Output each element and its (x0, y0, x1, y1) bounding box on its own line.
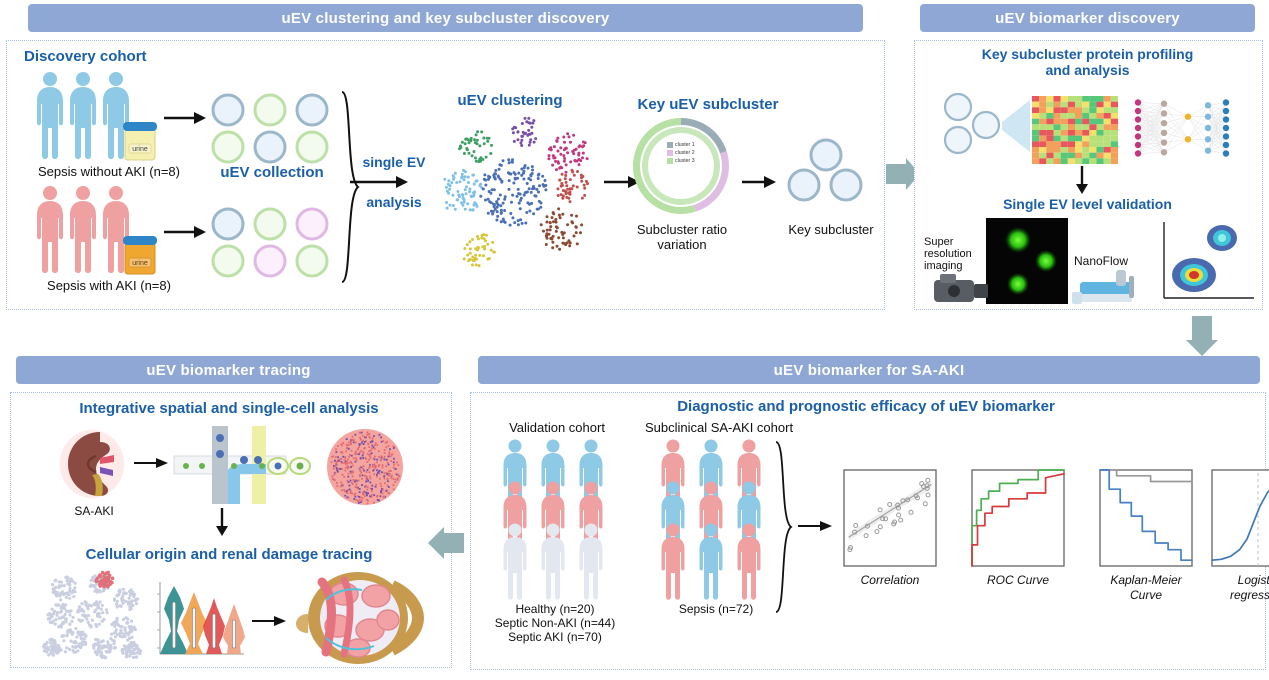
super-res-line1: Super (924, 236, 984, 248)
validation-count-healthy: Healthy (n=20) (480, 602, 630, 616)
subclinical-count-sepsis: Sepsis (n=72) (656, 602, 776, 616)
kidney-label: SA-AKI (56, 504, 132, 518)
discovery-vesicles (940, 92, 1006, 158)
svg-text:urine: urine (132, 146, 148, 153)
key-subcluster-caption: Key subcluster (776, 222, 886, 237)
violin-plot (150, 578, 246, 664)
plot-roc-caption: ROC Curve (960, 574, 1076, 588)
protein-heatmap (1032, 96, 1118, 164)
super-resolution-image (986, 218, 1068, 304)
validation-cohort-people (500, 438, 610, 598)
arrow-to-clustering (350, 174, 408, 190)
connector-arrow-left (428, 527, 464, 559)
panel-biomarker-header: uEV biomarker for SA-AKI (478, 356, 1260, 384)
legend-swatch-cluster3 (667, 158, 673, 164)
neural-network-diagram (1132, 92, 1232, 164)
legend-swatch-cluster2 (667, 150, 673, 156)
arrow-kidney-to-tissue (134, 456, 168, 470)
tracing-subtitle-bottom: Cellular origin and renal damage tracing (14, 546, 444, 563)
spatial-transcriptomics-circle (326, 428, 404, 506)
donut-caption-line1: Subcluster ratio (619, 222, 745, 237)
validation-cohort-label: Validation cohort (492, 420, 622, 435)
umap-scatter (42, 572, 146, 664)
super-res-line2: resolution (924, 248, 984, 260)
arrow-bottom-collection (164, 224, 206, 240)
uev-circles-bottom (208, 204, 333, 280)
uev-circles-top (208, 90, 333, 166)
arrow-down-validation (1074, 166, 1090, 194)
panel-tracing-header: uEV biomarker tracing (16, 356, 441, 384)
super-resolution-label: Super resolution imaging (924, 236, 984, 272)
panel-discovery-header: uEV biomarker discovery (920, 4, 1255, 32)
single-ev-validation-title: Single EV level validation (920, 196, 1255, 212)
legend-label-cluster2: cluster 2 (675, 149, 695, 157)
biomarker-subtitle: Diagnostic and prognostic efficacy of uE… (476, 398, 1256, 415)
single-ev-analysis-label-line1: single EV (354, 154, 434, 170)
urine-cup-yellow: urine (120, 116, 160, 162)
nanoflow-instrument-icon (1072, 268, 1148, 308)
uev-clustering-label: uEV clustering (430, 92, 590, 109)
sepsis-without-aki-label: Sepsis without AKI (n=8) (14, 164, 204, 179)
legend-item-cluster1: cluster 1 (667, 141, 723, 149)
plot-logistic-regression (1208, 466, 1269, 570)
sepsis-with-aki-label: Sepsis with AKI (n=8) (24, 278, 194, 293)
subclinical-cohort-people (658, 438, 768, 598)
arrow-down-tracing (214, 508, 230, 536)
donut-caption-line2: variation (619, 237, 745, 252)
microscope-camera-icon (930, 270, 992, 306)
panel-clustering: uEV clustering and key subcluster discov… (6, 4, 886, 314)
arrow-to-glomerulus (252, 614, 286, 628)
cohort-brace (774, 442, 794, 612)
legend-item-cluster2: cluster 2 (667, 149, 723, 157)
uev-collection-label: uEV collection (202, 164, 342, 181)
discovery-subtitle-line2: and analysis (920, 62, 1255, 78)
legend-swatch-cluster1 (667, 142, 673, 148)
subcluster-ratio-donut (631, 116, 731, 216)
connector-arrow-down (1186, 316, 1218, 356)
legend-label-cluster3: cluster 3 (675, 157, 695, 165)
spatial-tissue-schematic (174, 426, 314, 504)
panel-biomarker: uEV biomarker for SA-AKI Diagnostic and … (466, 356, 1266, 676)
plot-kaplan-meier (1096, 466, 1196, 570)
plot-correlation (840, 466, 940, 570)
svg-text:urine: urine (132, 260, 148, 267)
legend-item-cluster3: cluster 3 (667, 157, 723, 165)
plot-roc-curve (968, 466, 1068, 570)
arrow-to-plots (798, 519, 832, 533)
subclinical-cohort-label: Subclinical SA-AKI cohort (624, 420, 814, 435)
donut-legend: cluster 1 cluster 2 cluster 3 (667, 141, 723, 165)
key-subcluster-vesicles (784, 137, 868, 207)
plot-km-caption-line2: Curve (1088, 589, 1204, 603)
tracing-subtitle-top: Integrative spatial and single-cell anal… (14, 400, 444, 417)
validation-count-septic-non-aki: Septic Non-AKI (n=44) (474, 616, 636, 630)
nanoflow-density-plot (1150, 222, 1254, 308)
glomerulus-icon (292, 568, 418, 668)
validation-count-septic-aki: Septic AKI (n=70) (480, 630, 630, 644)
key-uev-subcluster-label: Key uEV subcluster (618, 96, 798, 113)
panel-discovery: uEV biomarker discovery Key subcluster p… (910, 4, 1265, 314)
legend-label-cluster1: cluster 1 (675, 141, 695, 149)
tsne-scatter-plot (432, 112, 602, 272)
arrow-top-collection (164, 110, 206, 126)
plot-km-caption-line1: Kaplan-Meier (1088, 574, 1204, 588)
plot-correlation-caption: Correlation (832, 574, 948, 588)
panel-clustering-header: uEV clustering and key subcluster discov… (28, 4, 863, 32)
plot-logistic-caption-line2: regression (1200, 589, 1269, 603)
kidney-icon (56, 426, 132, 502)
nanoflow-label: NanoFlow (1068, 254, 1134, 268)
urine-cup-orange: urine (120, 230, 160, 276)
panel-tracing: uEV biomarker tracing Integrative spatia… (6, 356, 456, 676)
plot-logistic-caption-line1: Logistic (1200, 574, 1269, 588)
funnel-shape (1002, 100, 1030, 152)
discovery-cohort-label: Discovery cohort (24, 48, 174, 65)
single-ev-analysis-label-line2: analysis (354, 194, 434, 210)
discovery-subtitle-line1: Key subcluster protein profiling (920, 46, 1255, 62)
arrow-to-key-subcluster (742, 174, 776, 190)
